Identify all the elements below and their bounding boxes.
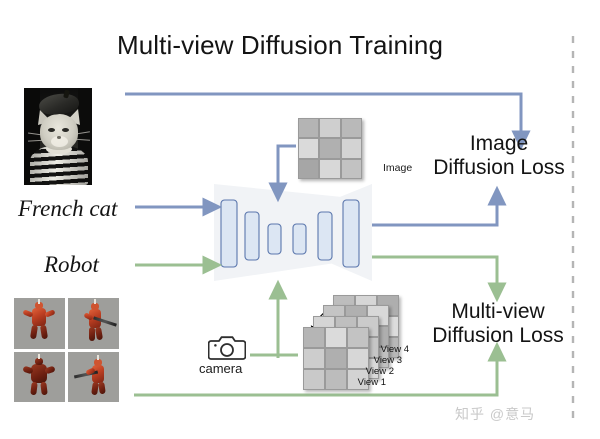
image-loss-line-2: Diffusion Loss: [433, 156, 565, 179]
figure-canvas: Multi-view Diffusion Training: [0, 0, 600, 439]
cat-eye-right: [62, 128, 69, 132]
prompt-label-french-cat: French cat: [18, 196, 117, 222]
robot-view-2: [68, 298, 119, 349]
cat-eye-left: [48, 128, 55, 132]
arrow-unet-to-mv-loss: [372, 257, 497, 292]
view-label-4: View 4: [349, 344, 409, 355]
image-diffusion-loss-label: Image Diffusion Loss: [432, 132, 566, 181]
arrow-unet-to-image-loss: [372, 196, 497, 225]
mv-loss-line-1: Multi-view: [451, 300, 544, 323]
unet-block-5: [318, 212, 332, 260]
robot-view-grid: [14, 298, 119, 402]
prompt-label-robot: Robot: [44, 252, 99, 278]
cat-nose: [57, 136, 61, 139]
view-label-1: View 1: [326, 377, 386, 388]
robot-view-4: [68, 352, 119, 403]
unet-block-2: [245, 212, 259, 260]
view-label-2: View 2: [334, 366, 394, 377]
unet-block-1: [221, 200, 237, 267]
image-loss-line-1: Image: [470, 132, 528, 155]
image-grid-label: Image: [383, 162, 412, 174]
watermark: 知乎 @意马: [455, 404, 535, 424]
unet-block-4: [293, 224, 306, 254]
unet-denoiser: [214, 184, 372, 281]
view-label-3: View 3: [342, 355, 402, 366]
unet-block-3: [268, 224, 281, 254]
arrow-image-grid-to-unet: [278, 146, 296, 192]
cat-photo: [24, 88, 92, 185]
robot-view-3: [14, 352, 65, 403]
robot-view-1: [14, 298, 65, 349]
camera-icon: [208, 334, 246, 361]
noised-image-grid: [298, 118, 362, 179]
camera-label: camera: [199, 361, 242, 376]
unet-block-6: [343, 200, 359, 267]
page-title: Multi-view Diffusion Training: [0, 30, 560, 61]
mv-loss-line-2: Diffusion Loss: [432, 324, 564, 347]
multiview-diffusion-loss-label: Multi-view Diffusion Loss: [422, 300, 574, 349]
